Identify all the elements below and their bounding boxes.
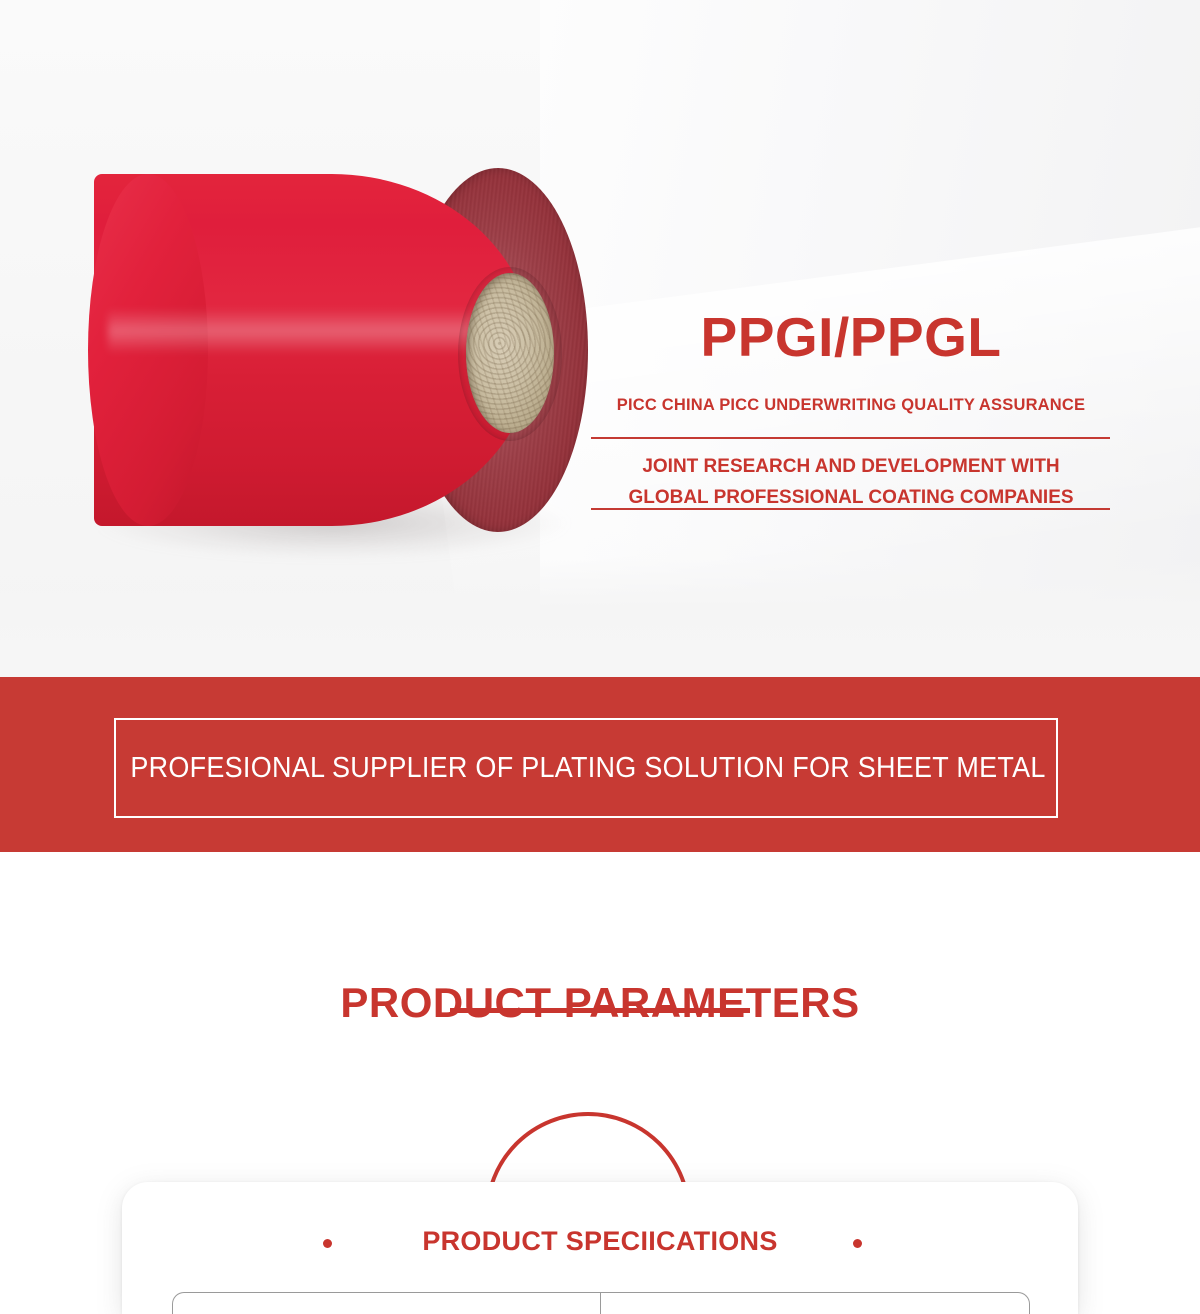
page-title: PPGI/PPGL bbox=[591, 309, 1111, 367]
hero-floor-gradient bbox=[0, 560, 1200, 677]
product-detail-page: PPGI/PPGL PICC CHINA PICC UNDERWRITING Q… bbox=[0, 0, 1200, 1314]
specifications-table-divider bbox=[600, 1293, 601, 1314]
product-specifications-title: PRODUCT SPECIICATIONS bbox=[122, 1226, 1078, 1257]
dot-icon-left bbox=[323, 1239, 332, 1248]
hero-rule-top bbox=[591, 437, 1110, 439]
hero-subtitle-line-1: JOINT RESEARCH AND DEVELOPMENT WITH bbox=[591, 451, 1111, 482]
coil-core-rim bbox=[458, 267, 562, 441]
hero-rule-bottom bbox=[591, 508, 1110, 510]
product-parameters-heading: PRODUCT PARAMETERS bbox=[0, 979, 1200, 1027]
product-parameters-underline bbox=[450, 1008, 750, 1013]
picc-assurance-text: PICC CHINA PICC UNDERWRITING QUALITY ASS… bbox=[591, 396, 1111, 415]
tagline-box: PROFESIONAL SUPPLIER OF PLATING SOLUTION… bbox=[114, 718, 1058, 818]
product-image-coil bbox=[88, 168, 588, 568]
tagline-banner: PROFESIONAL SUPPLIER OF PLATING SOLUTION… bbox=[0, 677, 1200, 852]
dot-icon-right bbox=[853, 1239, 862, 1248]
hero-section: PPGI/PPGL PICC CHINA PICC UNDERWRITING Q… bbox=[0, 0, 1200, 677]
hero-subtitle: JOINT RESEARCH AND DEVELOPMENT WITH GLOB… bbox=[591, 451, 1111, 513]
tagline-text: PROFESIONAL SUPPLIER OF PLATING SOLUTION… bbox=[149, 720, 1027, 816]
specifications-table bbox=[172, 1292, 1030, 1314]
